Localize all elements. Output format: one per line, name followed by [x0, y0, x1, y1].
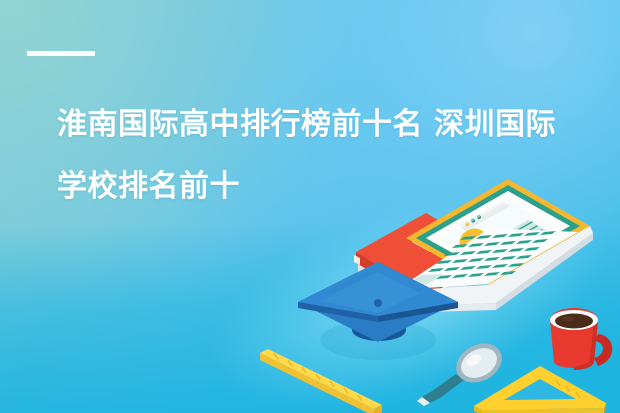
coffee-mug [550, 308, 612, 370]
education-illustration [260, 170, 620, 413]
article-cover-card: 淮南国际高中排行榜前十名 深圳国际学校排名前十 [0, 0, 620, 413]
title-accent-bar [27, 51, 95, 56]
